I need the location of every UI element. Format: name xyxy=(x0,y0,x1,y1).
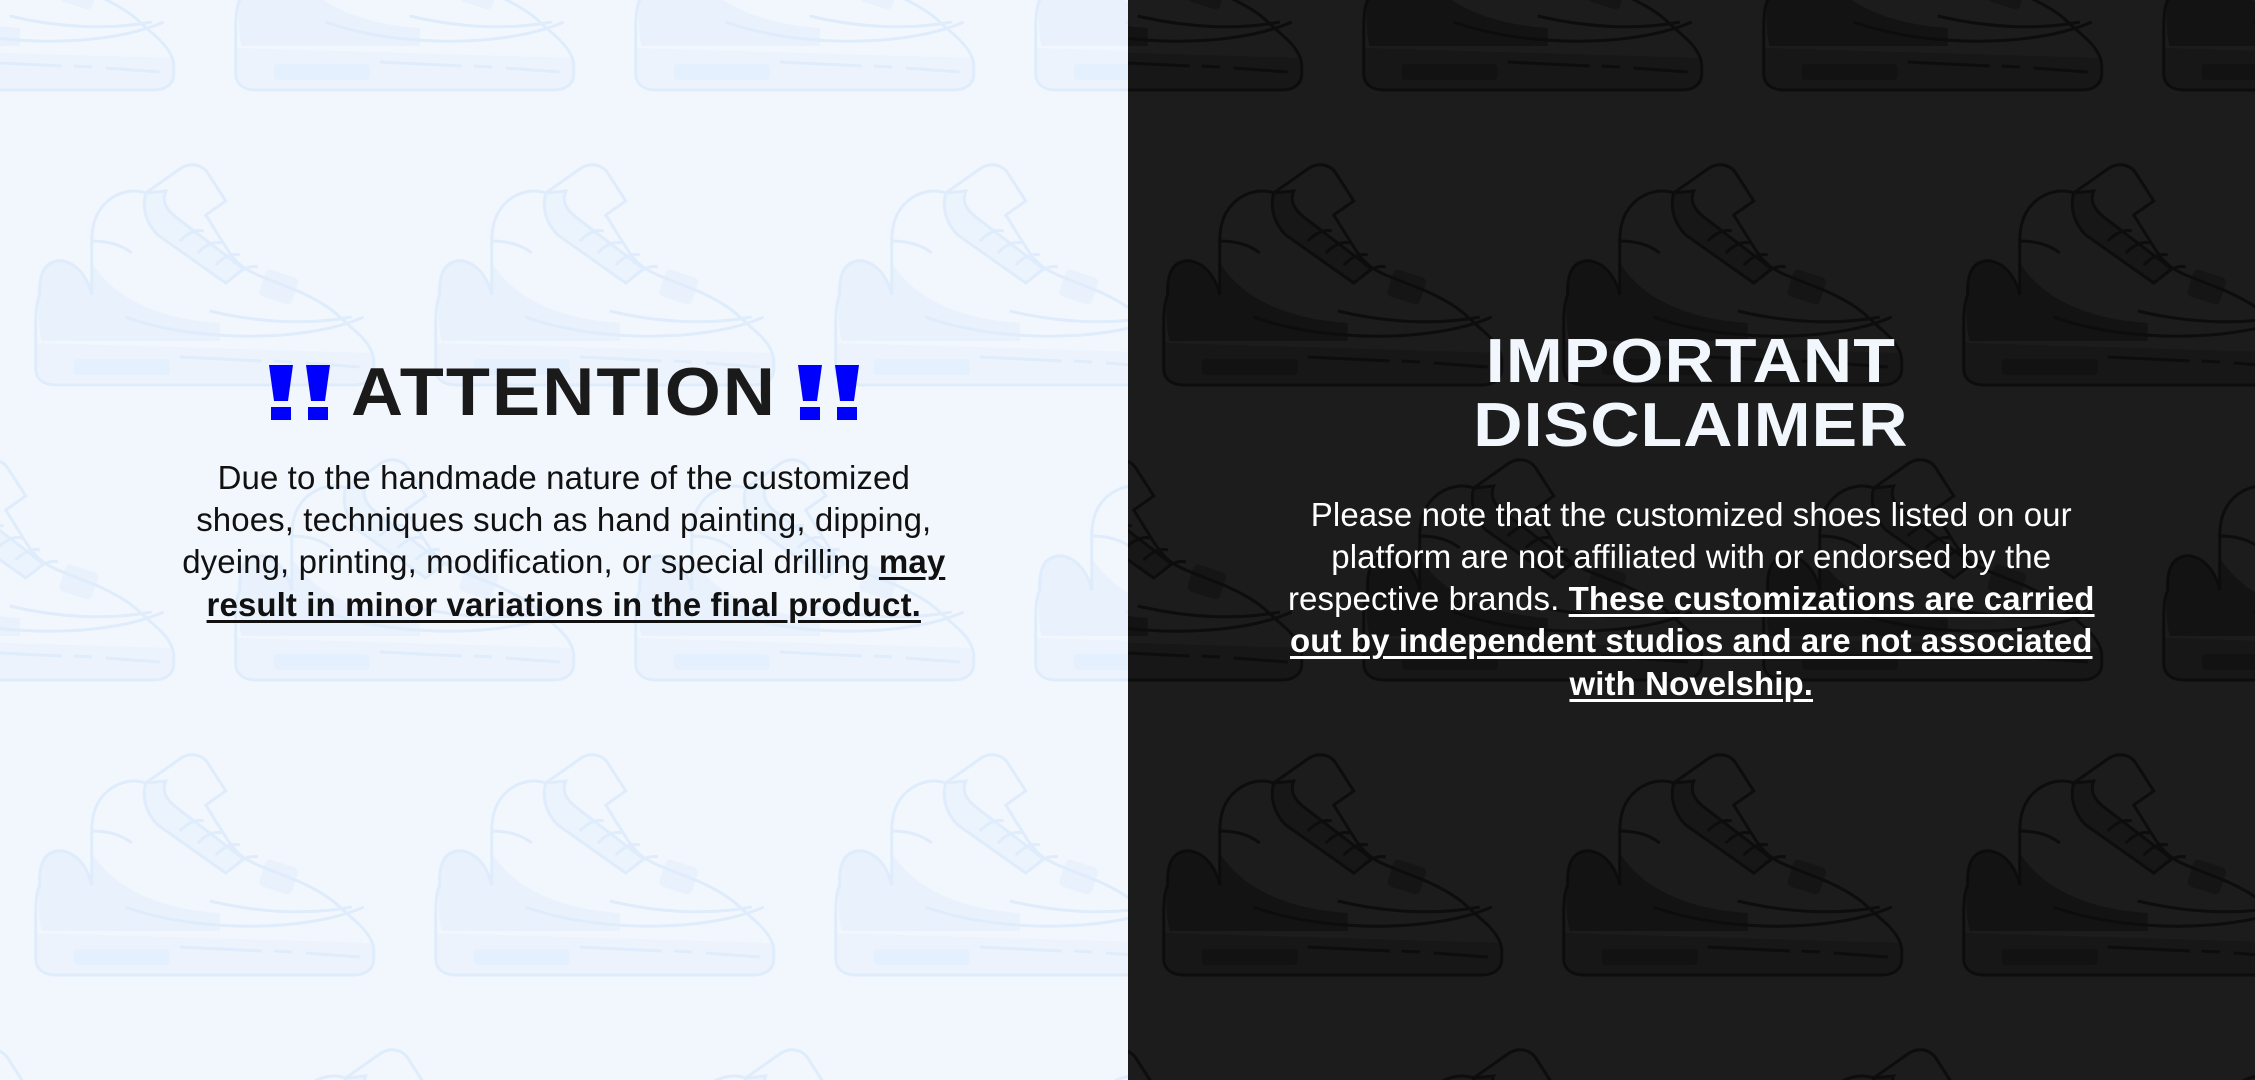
double-exclamation-icon-left xyxy=(266,363,333,421)
attention-content: ATTENTION Due to the handmade nature of … xyxy=(0,0,1128,1080)
disclaimer-heading-line1: IMPORTANT xyxy=(1474,330,1909,394)
disclaimer-heading: IMPORTANT DISCLAIMER xyxy=(1474,0,1909,458)
attention-heading: ATTENTION xyxy=(266,0,862,426)
disclaimer-panel: IMPORTANT DISCLAIMER Please note that th… xyxy=(1128,0,2255,1080)
attention-panel: ATTENTION Due to the handmade nature of … xyxy=(0,0,1128,1080)
disclaimer-body: Please note that the customized shoes li… xyxy=(1276,458,2106,705)
disclaimer-heading-line2: DISCLAIMER xyxy=(1474,394,1909,458)
double-exclamation-icon-right xyxy=(795,363,862,421)
attention-body: Due to the handmade nature of the custom… xyxy=(169,426,959,626)
disclaimer-content: IMPORTANT DISCLAIMER Please note that th… xyxy=(1128,0,2255,1080)
disclaimer-banner: ATTENTION Due to the handmade nature of … xyxy=(0,0,2255,1080)
attention-title-text: ATTENTION xyxy=(351,358,777,426)
attention-body-normal: Due to the handmade nature of the custom… xyxy=(182,459,931,580)
